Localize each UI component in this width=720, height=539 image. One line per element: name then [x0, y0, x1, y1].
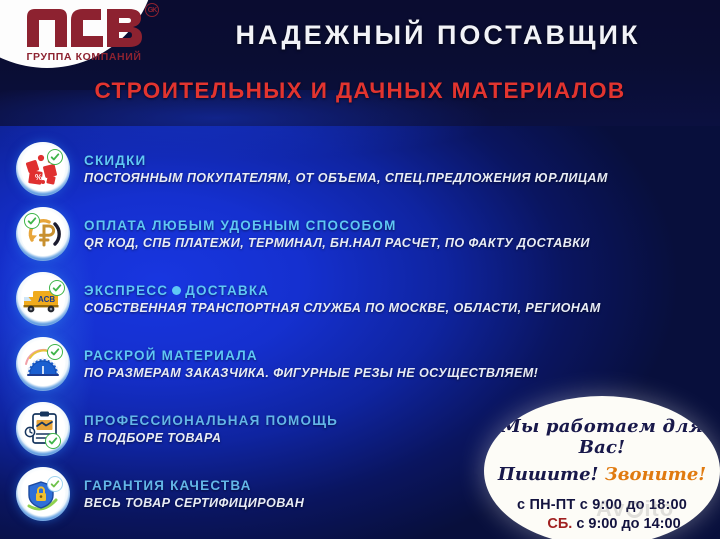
contact-cta: Пишите! Звоните! [484, 464, 720, 485]
company-logo: GK ГРУППА КОМПАНИЙ [0, 2, 168, 68]
svg-text:АСВ: АСВ [38, 295, 55, 304]
feature-title-part-b: ДОСТАВКА [185, 283, 269, 298]
promo-poster: GK ГРУППА КОМПАНИЙ НАДЕЖНЫЙ ПОСТАВЩИК СТ… [0, 0, 720, 539]
delivery-truck-icon: АСВ [16, 272, 70, 326]
feature-description: QR КОД, СПБ ПЛАТЕЖИ, ТЕРМИНАЛ, БН.НАЛ РА… [84, 236, 590, 250]
registered-mark-icon: GK [145, 3, 159, 17]
feature-title: ЭКСПРЕССДОСТАВКА [84, 283, 601, 298]
feature-row-payment: ОПЛАТА ЛЮБЫМ УДОБНЫМ СПОСОБОМ QR КОД, СП… [0, 201, 720, 266]
logo-mark: GK [25, 7, 143, 49]
logo-tagline: ГРУППА КОМПАНИЙ [26, 51, 141, 63]
feature-description: ПОСТОЯННЫМ ПОКУПАТЕЛЯМ, ОТ ОБЪЕМА, СПЕЦ.… [84, 171, 608, 185]
feature-row-discounts: % СКИДКИ ПОСТОЯННЫМ ПОКУПАТЕЛЯМ, ОТ ОБЪЕ… [0, 136, 720, 201]
feature-title: СКИДКИ [84, 153, 608, 168]
ruble-payment-icon [16, 207, 70, 261]
discount-tags-icon: % [16, 142, 70, 196]
feature-description: ПО РАЗМЕРАМ ЗАКАЗЧИКА. ФИГУРНЫЕ РЕЗЫ НЕ … [84, 366, 538, 380]
clipboard-handshake-icon [16, 402, 70, 456]
check-badge-icon [24, 213, 40, 229]
hours-saturday-label: СБ. [547, 516, 572, 532]
feature-description: ВЕСЬ ТОВАР СЕРТИФИЦИРОВАН [84, 496, 304, 510]
feature-description: В ПОДБОРЕ ТОВАРА [84, 431, 338, 445]
write-cta-label: Пишите! [498, 464, 599, 485]
feature-title: РАСКРОЙ МАТЕРИАЛА [84, 348, 538, 363]
feature-row-cutting: РАСКРОЙ МАТЕРИАЛА ПО РАЗМЕРАМ ЗАКАЗЧИКА.… [0, 331, 720, 396]
feature-title: ОПЛАТА ЛЮБЫМ УДОБНЫМ СПОСОБОМ [84, 218, 590, 233]
page-subtitle: СТРОИТЕЛЬНЫХ И ДАЧНЫХ МАТЕРИАЛОВ [10, 78, 710, 104]
saw-cutting-icon [16, 337, 70, 391]
page-title: НАДЕЖНЫЙ ПОСТАВЩИК [168, 20, 708, 51]
svg-text:%: % [35, 173, 42, 182]
hours-weekday-label: с ПН-ПТ [517, 497, 576, 513]
hours-saturday: СБ. с 9:00 до 14:00 [484, 516, 720, 532]
feature-row-delivery: АСВ ЭКСПРЕССДОСТАВКА СОБСТВЕННАЯ ТРАНСПО… [0, 266, 720, 331]
bullet-dot-icon [172, 286, 181, 295]
check-badge-icon [49, 280, 65, 296]
contact-card: Мы работаем для Вас! Пишите! Звоните! с … [484, 396, 720, 539]
shield-lock-icon [16, 467, 70, 521]
hours-weekday-value: с 9:00 до 18:00 [580, 497, 687, 513]
contact-headline: Мы работаем для Вас! [484, 416, 720, 458]
check-badge-icon [45, 433, 61, 449]
hours-saturday-value: с 9:00 до 14:00 [576, 516, 680, 532]
logo-letters-icon [25, 7, 143, 49]
feature-title-part-a: ЭКСПРЕСС [84, 283, 168, 298]
check-badge-icon [47, 344, 63, 360]
feature-description: СОБСТВЕННАЯ ТРАНСПОРТНАЯ СЛУЖБА ПО МОСКВ… [84, 301, 601, 315]
feature-title: ГАРАНТИЯ КАЧЕСТВА [84, 478, 304, 493]
feature-title: ПРОФЕССИОНАЛЬНАЯ ПОМОЩЬ [84, 413, 338, 428]
check-badge-icon [47, 149, 63, 165]
call-cta-label: Звоните! [605, 464, 706, 485]
hours-weekday: с ПН-ПТ с 9:00 до 18:00 [484, 497, 720, 513]
check-badge-icon [47, 476, 63, 492]
